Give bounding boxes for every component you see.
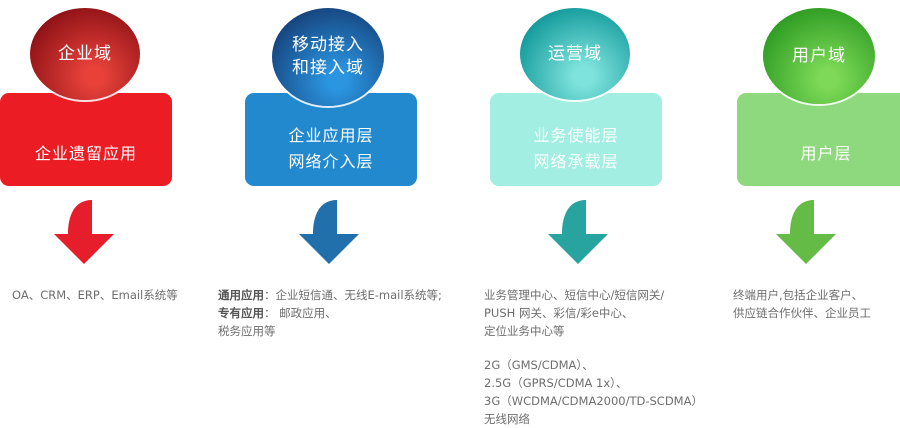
band-label-line: 用户层 bbox=[800, 141, 851, 167]
layer-band-mobile-access-domain[interactable]: 企业应用层网络介入层 bbox=[245, 93, 417, 186]
domain-sphere-enterprise-domain[interactable]: 企业域 bbox=[30, 8, 140, 100]
sphere-label-line: 移动接入 bbox=[292, 34, 364, 57]
sphere-label-line: 和接入域 bbox=[292, 57, 364, 80]
flow-arrow-operation-domain bbox=[548, 200, 608, 268]
sphere-label-line: 用户域 bbox=[792, 45, 846, 68]
band-label-line: 网络承载层 bbox=[533, 149, 618, 175]
down-arrow-icon bbox=[299, 200, 359, 264]
band-label-line: 业务使能层 bbox=[533, 123, 618, 149]
diagram-canvas: 企业遗留应用企业域OA、CRM、ERP、Email系统等企业应用层网络介入层移动… bbox=[0, 0, 900, 404]
down-arrow-icon bbox=[54, 200, 114, 264]
caption-text: 无线网络 bbox=[484, 412, 530, 426]
layer-band-enterprise-domain[interactable]: 企业遗留应用 bbox=[0, 93, 172, 186]
caption-line: 无线网络 bbox=[484, 410, 703, 428]
caption-user-domain: 终端用户,包括企业客户、供应链合作伙伴、企业员工 bbox=[733, 286, 871, 322]
band-label-line: 企业应用层 bbox=[288, 123, 373, 149]
domain-sphere-user-domain[interactable]: 用户域 bbox=[763, 8, 875, 104]
caption-paragraph: 终端用户,包括企业客户、供应链合作伙伴、企业员工 bbox=[733, 286, 871, 322]
domain-sphere-operation-domain[interactable]: 运营域 bbox=[520, 8, 630, 100]
layer-band-user-domain[interactable]: 用户层 bbox=[737, 93, 900, 186]
caption-text: 供应链合作伙伴、企业员工 bbox=[733, 306, 871, 320]
domain-sphere-mobile-access-domain[interactable]: 移动接入和接入域 bbox=[272, 8, 384, 106]
down-arrow-icon bbox=[548, 200, 608, 264]
sphere-label-line: 运营域 bbox=[548, 43, 602, 66]
flow-arrow-enterprise-domain bbox=[54, 200, 114, 268]
sphere-label-line: 企业域 bbox=[58, 43, 112, 66]
flow-arrow-mobile-access-domain bbox=[299, 200, 359, 268]
layer-band-operation-domain[interactable]: 业务使能层网络承载层 bbox=[490, 93, 662, 186]
band-label-line: 企业遗留应用 bbox=[35, 141, 137, 167]
down-arrow-icon bbox=[776, 200, 836, 264]
caption-text: 终端用户,包括企业客户、 bbox=[733, 288, 863, 302]
band-label-line: 网络介入层 bbox=[288, 149, 373, 175]
caption-line: 供应链合作伙伴、企业员工 bbox=[733, 304, 871, 322]
flow-arrow-user-domain bbox=[776, 200, 836, 268]
caption-line: 终端用户,包括企业客户、 bbox=[733, 286, 871, 304]
